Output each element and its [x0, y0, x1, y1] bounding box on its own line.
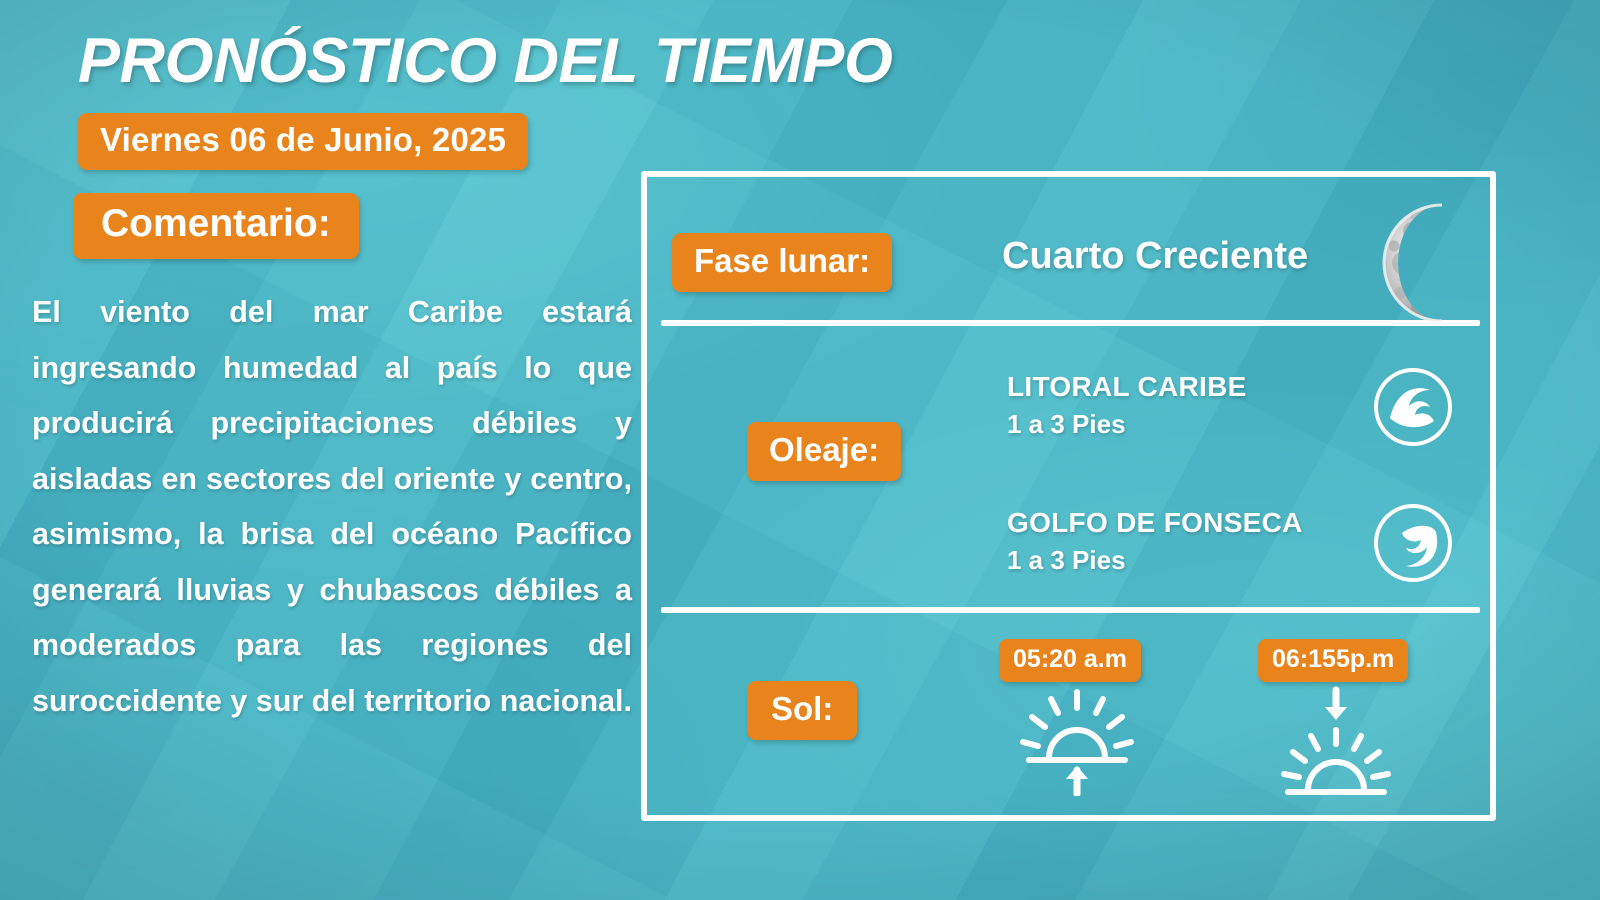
sunrise-icon	[1015, 686, 1139, 796]
weather-forecast-poster: PRONÓSTICO DEL TIEMPO Viernes 06 de Juni…	[0, 0, 1600, 900]
forecast-date-badge: Viernes 06 de Junio, 2025	[78, 113, 528, 170]
panel-divider	[661, 320, 1480, 326]
panel-divider	[661, 607, 1480, 613]
wave-icon	[1372, 502, 1454, 584]
swell-entry-litoral-caribe: LITORAL CARIBE 1 a 3 Pies	[1007, 371, 1247, 440]
moon-phase-value: Cuarto Creciente	[1002, 235, 1308, 278]
wave-icon	[1372, 366, 1454, 448]
page-title: PRONÓSTICO DEL TIEMPO	[78, 30, 892, 93]
conditions-panel: Fase lunar: Cuarto Creciente	[641, 171, 1496, 821]
moon-phase-label: Fase lunar:	[672, 233, 892, 292]
swell-height-value: 1 a 3 Pies	[1007, 409, 1247, 440]
sunrise-time-badge: 05:20 a.m	[999, 639, 1141, 682]
swell-height-value: 1 a 3 Pies	[1007, 545, 1303, 576]
waxing-crescent-moon-icon	[1382, 201, 1502, 325]
sunset-time-badge: 06:155p.m	[1258, 639, 1408, 682]
swell-region-name: LITORAL CARIBE	[1007, 371, 1247, 403]
sunset-icon	[1274, 686, 1398, 796]
comment-body-text: El viento del mar Caribe estará ingresan…	[32, 285, 632, 729]
sun-label: Sol:	[747, 681, 857, 740]
swell-label: Oleaje:	[747, 422, 901, 481]
swell-region-name: GOLFO DE FONSECA	[1007, 507, 1303, 539]
swell-entry-golfo-de-fonseca: GOLFO DE FONSECA 1 a 3 Pies	[1007, 507, 1303, 576]
comment-heading-badge: Comentario:	[73, 193, 359, 259]
